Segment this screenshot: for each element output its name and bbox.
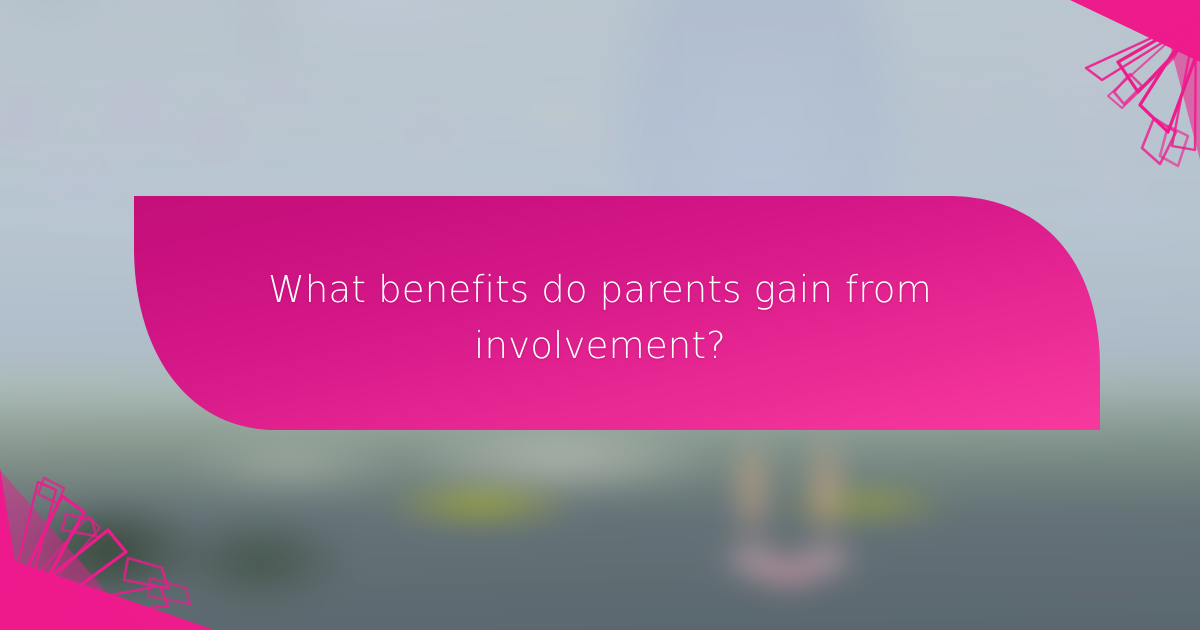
quote-card: What benefits do parents gain from invol…: [0, 0, 1200, 630]
quote-text: What benefits do parents gain from invol…: [150, 262, 1050, 374]
